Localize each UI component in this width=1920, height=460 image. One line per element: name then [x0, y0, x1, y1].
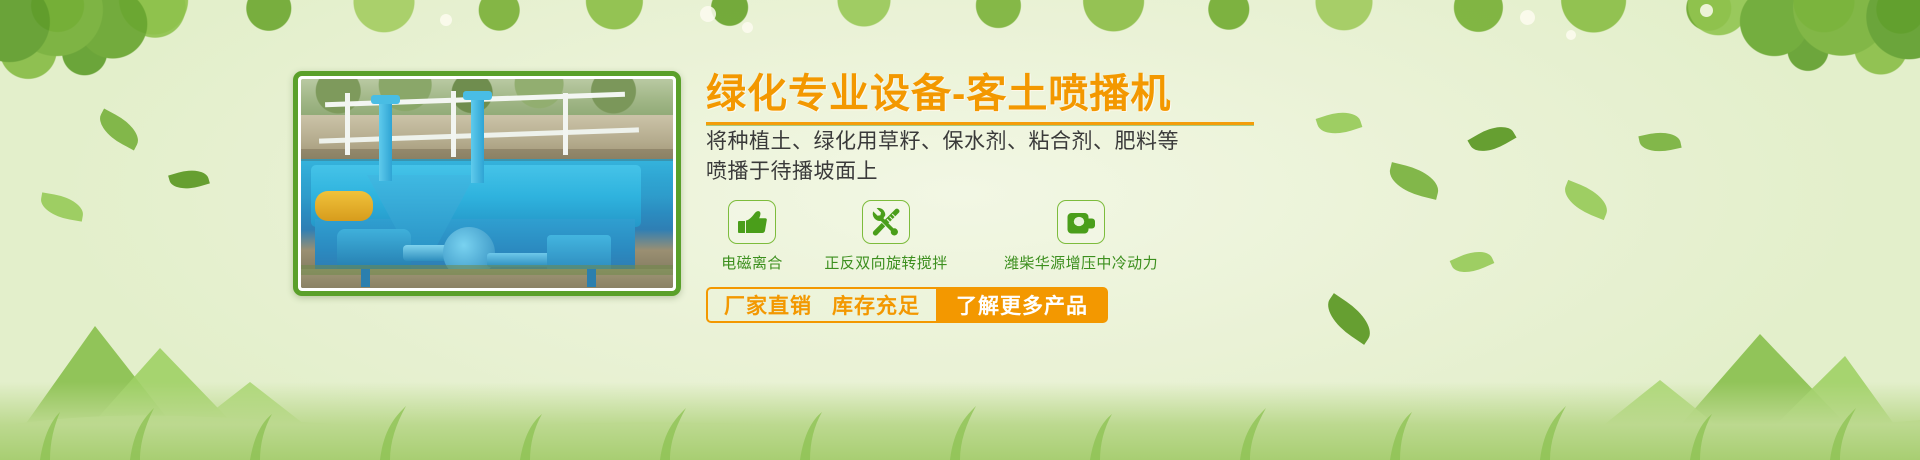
feature-list: 电磁离合 正反双向旋转搅拌 [706, 200, 1306, 273]
engine-power-icon [1065, 209, 1097, 235]
page-title: 绿化专业设备-客土喷播机 [706, 68, 1306, 120]
feature-icon-box [862, 200, 910, 244]
photo-railing-post [451, 91, 456, 157]
photo-support-leg [587, 269, 596, 287]
blossom-decoration [1700, 4, 1713, 17]
floating-leaf [1467, 118, 1516, 159]
feature-item-electromagnetic-clutch[interactable]: 电磁离合 [706, 200, 798, 273]
photo-pipe-cap [371, 95, 400, 104]
top-right-foliage-decoration [1360, 0, 1920, 120]
blossom-decoration [1520, 10, 1535, 25]
floating-leaf [1638, 128, 1681, 156]
product-photo [298, 76, 676, 291]
photo-railing-post [563, 93, 568, 155]
cta-tag-stock: 库存充足 [832, 290, 920, 320]
cta-tags: 厂家直销 库存充足 [706, 287, 936, 323]
title-divider-secondary [706, 125, 1254, 126]
floating-leaf [38, 192, 85, 221]
photo-pipe [471, 97, 484, 183]
photo-yellow-part [315, 191, 373, 221]
feature-label: 潍柴华源增压中冷动力 [974, 252, 1188, 273]
product-photo-frame[interactable] [293, 71, 681, 296]
feature-label: 电磁离合 [706, 252, 798, 273]
thumbs-up-icon [737, 208, 767, 236]
cta-tag-factory-direct: 厂家直销 [724, 290, 812, 320]
photo-railing-post [345, 93, 350, 155]
feature-item-bidirectional-mixing[interactable]: 正反双向旋转搅拌 [798, 200, 974, 273]
floating-leaf [1316, 106, 1363, 140]
promo-banner: 绿化专业设备-客土喷播机 将种植土、绿化用草籽、保水剂、粘合剂、肥料等 喷播于待… [0, 0, 1920, 460]
cta-bar: 厂家直销 库存充足 了解更多产品 [706, 287, 1306, 323]
title-divider [706, 122, 1254, 125]
photo-wall-shadow [301, 149, 673, 161]
learn-more-button[interactable]: 了解更多产品 [936, 287, 1108, 323]
floating-leaf [1386, 162, 1443, 200]
blossom-decoration [700, 6, 716, 22]
feature-icon-box [1057, 200, 1105, 244]
photo-ground-grass [301, 265, 673, 275]
wrench-screwdriver-icon [871, 207, 901, 237]
floating-leaf [1559, 180, 1612, 220]
blossom-decoration [440, 14, 452, 26]
feature-icon-box [728, 200, 776, 244]
feature-item-weichai-power[interactable]: 潍柴华源增压中冷动力 [974, 200, 1188, 273]
blossom-decoration [742, 22, 753, 33]
banner-content: 绿化专业设备-客土喷播机 将种植土、绿化用草籽、保水剂、粘合剂、肥料等 喷播于待… [706, 68, 1306, 323]
blossom-decoration [1566, 30, 1576, 40]
floating-leaf [168, 165, 210, 194]
subtitle-line-2: 喷播于待播坡面上 [706, 158, 1306, 186]
photo-pipe [379, 101, 392, 181]
grass-blades-decoration [0, 374, 1920, 460]
photo-pipe-cap [463, 91, 492, 100]
subtitle-line-1: 将种植土、绿化用草籽、保水剂、粘合剂、肥料等 [706, 128, 1306, 156]
feature-label: 正反双向旋转搅拌 [798, 252, 974, 273]
photo-support-leg [361, 269, 370, 287]
